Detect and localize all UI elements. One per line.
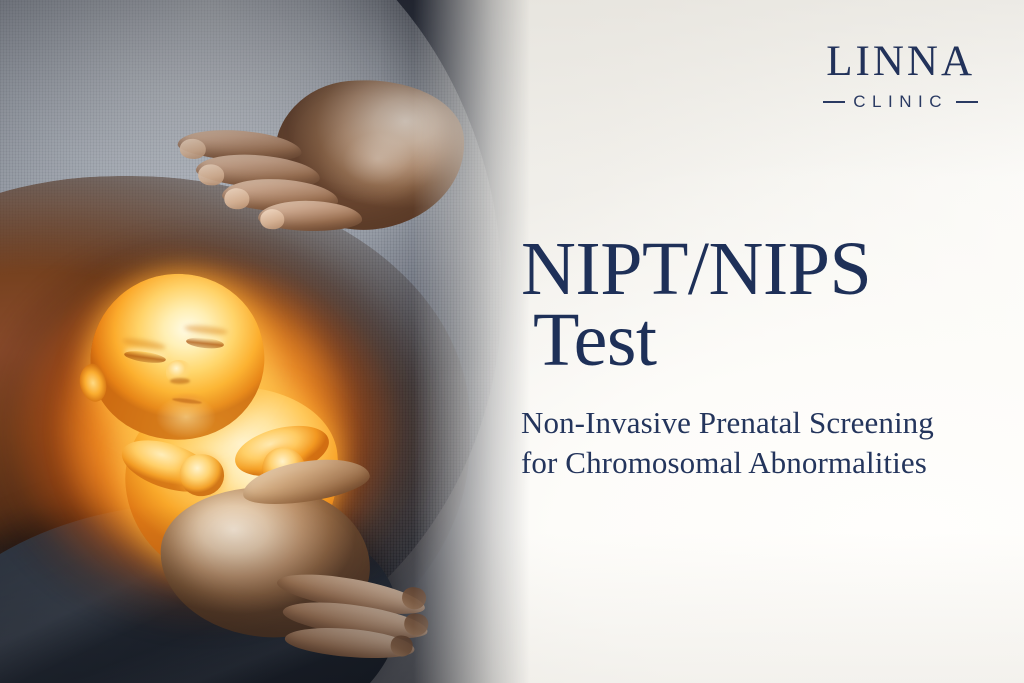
hero-photo xyxy=(0,0,530,683)
hand-top-nail-3 xyxy=(224,188,250,210)
hand-cradling-below-belly xyxy=(153,446,468,683)
logo-rule-left xyxy=(823,101,845,103)
logo-tagline: CLINIC xyxy=(853,92,948,112)
logo-tagline-row: CLINIC xyxy=(823,92,978,112)
page-subtitle: Non-Invasive Prenatal Screening for Chro… xyxy=(521,403,1001,482)
brand-logo[interactable]: LINNA CLINIC xyxy=(823,40,978,112)
promo-banner: LINNA CLINIC NIPT/NIPS Test Non-Invasive… xyxy=(0,0,1024,683)
hand-top-nail-4 xyxy=(260,209,284,229)
hero-photo-mask xyxy=(0,0,530,683)
headline-block: NIPT/NIPS Test Non-Invasive Prenatal Scr… xyxy=(521,234,1001,482)
title-line-2: Test xyxy=(533,305,1001,376)
subtitle-line-1: Non-Invasive Prenatal Screening xyxy=(521,403,1001,443)
hand-resting-on-belly xyxy=(161,65,476,270)
subtitle-line-2: for Chromosomal Abnormalities xyxy=(521,443,1001,483)
baby-nostril xyxy=(170,378,190,384)
logo-wordmark: LINNA xyxy=(823,40,978,83)
logo-rule-right xyxy=(956,101,978,103)
page-title: NIPT/NIPS Test xyxy=(521,234,1001,377)
